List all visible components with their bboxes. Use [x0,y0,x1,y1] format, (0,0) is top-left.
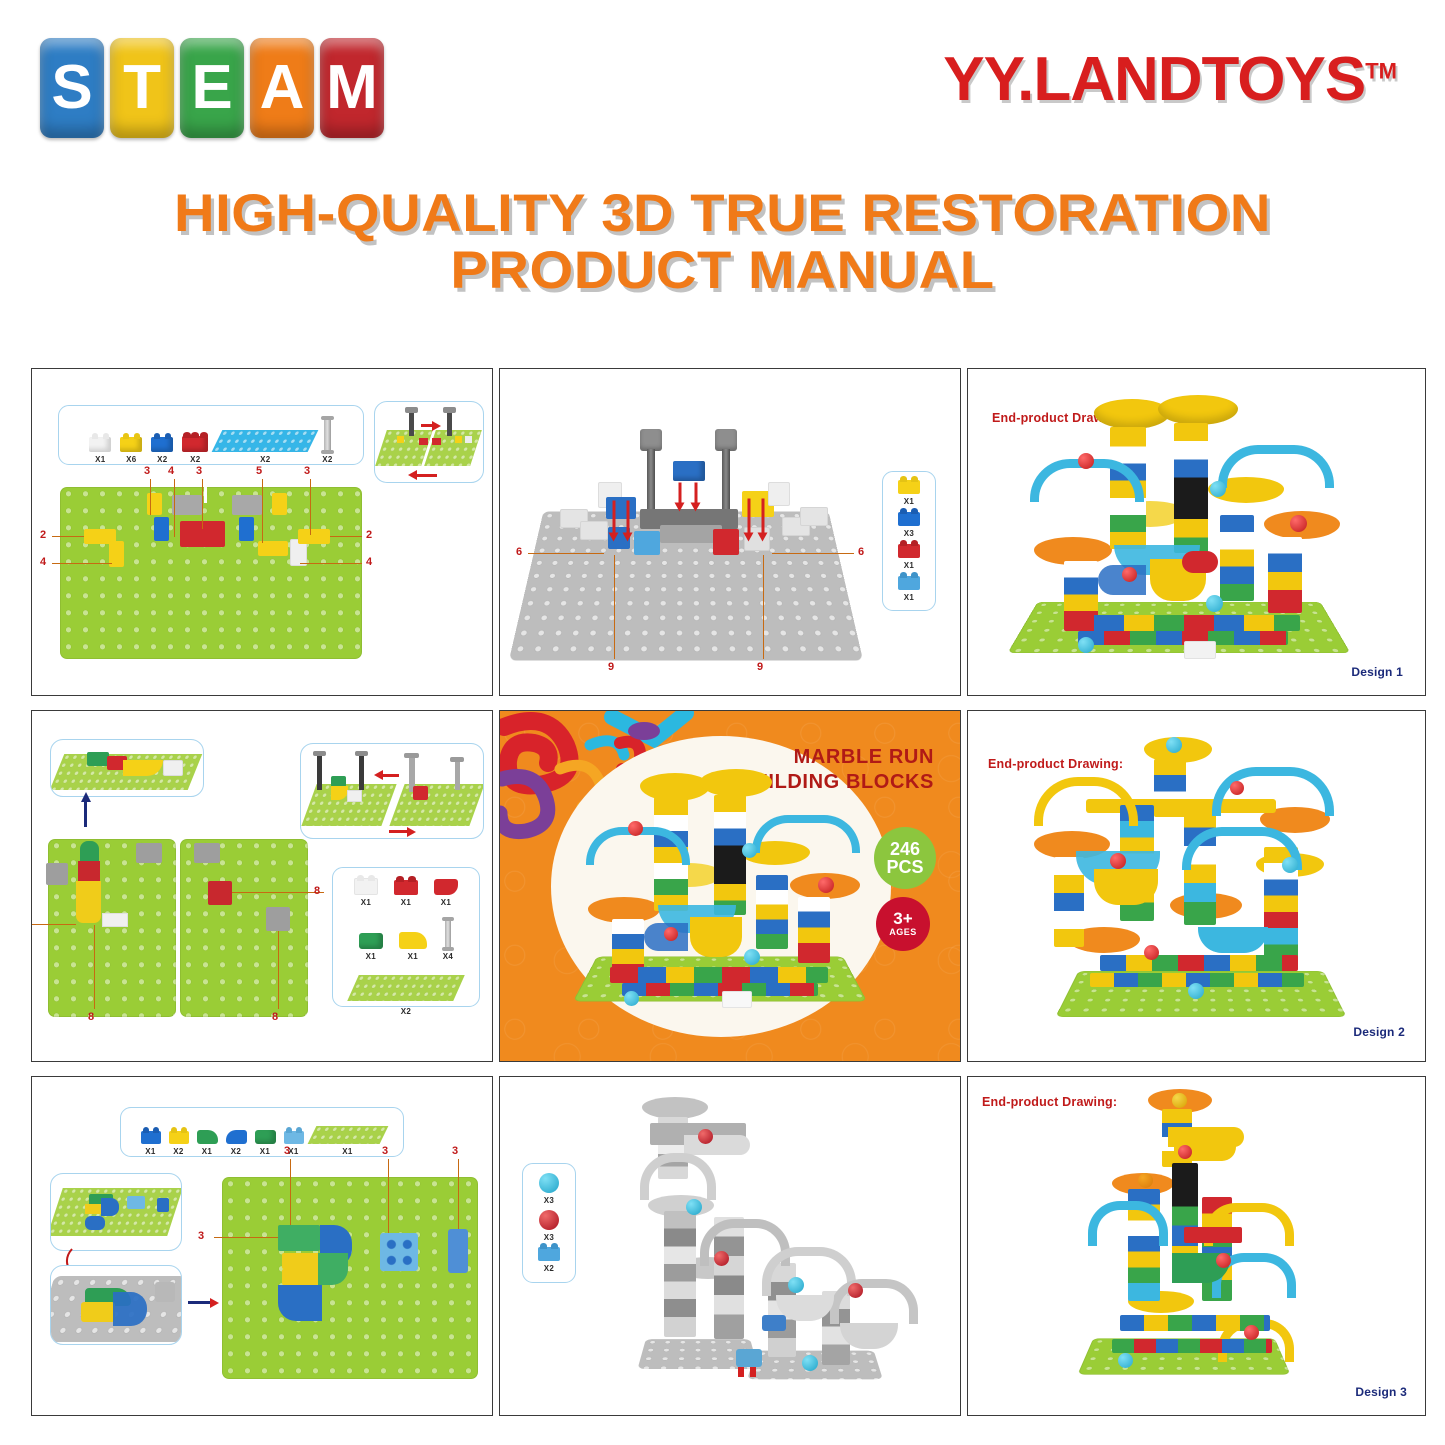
part-qty: X1 [408,952,418,961]
part-item: X2 [322,418,332,464]
parts-legend-step-2: X1 X3 X1 X1 [882,471,936,611]
marble-run-illustration-design-2 [968,711,1425,1061]
detail-inset-closeup [50,1265,182,1345]
part-item: X1 [141,1131,161,1156]
callout-number: 3 [198,1230,204,1242]
part-qty: X2 [260,455,270,464]
panel-product-box: MARBLE RUN BUILDING BLOCKS 246 PCS 3+ AG… [499,710,961,1062]
part-qty: X3 [904,529,914,538]
marble-run-illustration-design-1 [968,369,1425,695]
detail-inset-overview [50,1173,182,1251]
part-item: X6 [120,437,142,464]
page-title-line-2: PRODUCT MANUAL [0,243,1445,300]
part-qty: X2 [401,1007,411,1016]
part-item: X1 [898,544,920,570]
steam-tile-t: T [110,38,174,138]
part-item: X1 [399,932,427,961]
arrow-up-icon [84,801,87,827]
arrow-down-icon [679,483,682,505]
product-box-art: MARBLE RUN BUILDING BLOCKS 246 PCS 3+ AG… [500,711,960,1061]
marble-run-illustration-greyscale [500,1077,960,1415]
part-qty: X1 [904,561,914,570]
callout-number: 6 [516,546,522,558]
callout-number: 3 [284,1145,290,1157]
part-qty: X1 [260,1147,270,1156]
callout-number: 3 [144,465,150,477]
callout-number: 4 [40,556,46,568]
callout-number: 2 [40,529,46,541]
part-qty: X2 [231,1147,241,1156]
part-qty: X1 [366,952,376,961]
baseplate-green [222,1177,478,1379]
panel-step-1: X1 X6 X2 X2 [31,368,493,696]
part-qty: X6 [126,455,136,464]
arrow-right-icon [188,1301,212,1304]
callout-number: 4 [366,556,372,568]
part-qty: X2 [322,455,332,464]
part-item: X1 [354,878,378,907]
part-item: X2 [217,430,313,464]
steam-tile-a: A [250,38,314,138]
arrow-down-icon [762,499,765,535]
panel-step-2: 6 6 9 9 X1 X3 [499,368,961,696]
trademark-symbol: TM [1365,58,1397,83]
arrow-right-icon [389,830,409,833]
arrow-down-icon [613,501,616,535]
steam-tile-e: E [180,38,244,138]
part-qty: X1 [361,898,371,907]
part-qty: X2 [157,455,167,464]
callout-number: 3 [304,465,310,477]
callout-number: 3 [196,465,202,477]
part-qty: X4 [443,952,453,961]
callout-number: 8 [314,885,320,897]
design-label: Design 1 [1351,665,1403,679]
parts-legend-step-1: X1 X6 X2 X2 [58,405,364,465]
part-qty: X2 [190,455,200,464]
arrow-down-icon [748,499,751,535]
arrow-left-icon [415,474,437,477]
part-item: X2 [353,975,459,1016]
parts-legend-step-3: X1 X1 X1 X1 X1 [332,867,480,1007]
page-title: HIGH-QUALITY 3D TRUE RESTORATION PRODUCT… [0,186,1445,299]
manual-panel-grid: X1 X6 X2 X2 [31,368,1414,1418]
callout-number: 3 [452,1145,458,1157]
part-item: X2 [182,436,208,464]
part-qty: X2 [173,1147,183,1156]
marble-run-illustration-box [500,711,960,1061]
part-item: X2 [226,1130,247,1156]
callout-number: 9 [608,661,614,673]
brand-logo: YY.LANDTOYSTM [943,44,1397,115]
steam-tile-m: M [320,38,384,138]
part-item: X1 [359,933,383,961]
part-item: X1 [898,480,920,506]
callout-number: 2 [366,529,372,541]
part-item: X1 [197,1130,218,1156]
part-item: X3 [898,512,920,538]
part-item: X1 [394,880,418,907]
page-title-line-1: HIGH-QUALITY 3D TRUE RESTORATION [0,186,1445,243]
panel-design-3: End-product Drawing: [967,1076,1426,1416]
part-qty: X1 [904,593,914,602]
part-qty: X1 [202,1147,212,1156]
arrow-right-icon [421,424,434,427]
callout-number: 4 [168,465,174,477]
part-qty: X1 [401,898,411,907]
callout-number: 3 [382,1145,388,1157]
part-item: X1 [89,437,111,464]
panel-step-5: X3 X3 X2 [499,1076,961,1416]
panel-design-2: End-product Drawing: [967,710,1426,1062]
baseplate-green [60,487,362,659]
brand-logo-text: YY.LANDTOYS [943,45,1365,114]
callout-number: 8 [272,1011,278,1023]
panel-step-4: X1 X2 X1 X2 X1 [31,1076,493,1416]
design-label: Design 3 [1355,1385,1407,1399]
callout-number: 5 [256,465,262,477]
arrow-down-icon [695,483,698,505]
design-label: Design 2 [1353,1025,1405,1039]
baseplate-join-inset [374,401,484,483]
parts-legend-step-4: X1 X2 X1 X2 X1 [120,1107,404,1157]
part-qty: X1 [441,898,451,907]
marble-run-illustration-design-3 [968,1077,1425,1415]
part-item: X2 [151,437,173,464]
part-item: X1 [312,1126,384,1156]
callout-number: 6 [858,546,864,558]
panel-step-3: X1 X1 X1 X1 X1 [31,710,493,1062]
steam-tile-s: S [40,38,104,138]
part-item: X1 [255,1130,276,1156]
arrow-left-icon [381,774,399,777]
part-item: X1 [434,879,458,907]
detail-inset-step-3 [50,739,204,797]
part-item: X4 [443,919,453,961]
panel-design-1: End-product Drawing: [967,368,1426,696]
arrow-down-icon [627,501,630,535]
part-qty: X1 [95,455,105,464]
part-qty: X1 [342,1147,352,1156]
part-qty: X1 [145,1147,155,1156]
callout-number: 8 [88,1011,94,1023]
steam-logo: S T E A M [40,38,384,138]
page-header: S T E A M YY.LANDTOYSTM HIGH-QUALITY 3D … [0,0,1445,352]
part-item: X1 [898,576,920,602]
baseplate-pair-inset [300,743,484,839]
callout-number: 9 [757,661,763,673]
part-item: X2 [169,1131,189,1156]
part-qty: X1 [904,497,914,506]
